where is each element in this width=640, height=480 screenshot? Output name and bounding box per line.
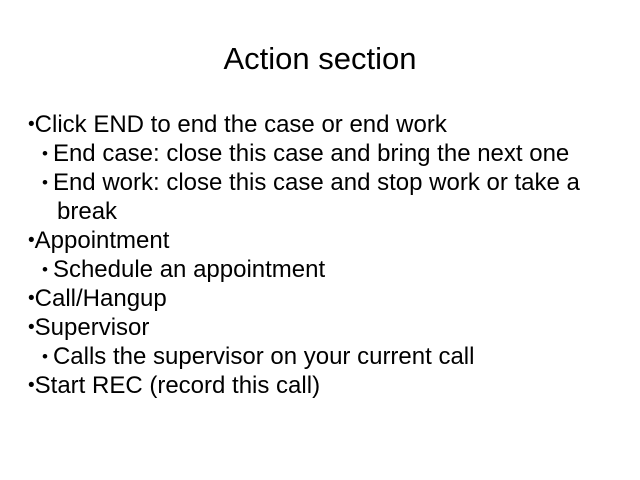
bullet-glyph-icon: •	[42, 144, 48, 163]
bullet-text: Schedule an appointment	[53, 256, 325, 283]
bullet-glyph-icon: •	[28, 230, 35, 251]
bullet-glyph-icon: •	[28, 288, 35, 309]
bullet-text: Click END to end the case or end work	[35, 111, 447, 138]
bullet-item-level1: •Supervisor	[28, 313, 616, 342]
bullet-text: Call/Hangup	[35, 285, 167, 312]
bullet-text: Start REC (record this call)	[35, 372, 320, 399]
bullet-item-level2: •End case: close this case and bring the…	[28, 139, 616, 168]
bullet-item-level2: •End work: close this case and stop work…	[28, 168, 616, 226]
bullet-glyph-icon: •	[28, 317, 35, 338]
bullet-text: Appointment	[35, 227, 170, 254]
bullet-glyph-icon: •	[28, 375, 35, 396]
bullet-item-level1: •Appointment	[28, 226, 616, 255]
bullet-item-level2: •Calls the supervisor on your current ca…	[28, 342, 616, 371]
bullet-glyph-icon: •	[42, 173, 48, 192]
bullet-item-level1: •Start REC (record this call)	[28, 371, 616, 400]
bullet-glyph-icon: •	[42, 260, 48, 279]
bullet-item-level1: •Click END to end the case or end work	[28, 110, 616, 139]
bullet-text: End case: close this case and bring the …	[53, 140, 569, 167]
bullet-glyph-icon: •	[28, 114, 35, 135]
page-title: Action section	[0, 41, 640, 77]
bullet-text: Calls the supervisor on your current cal…	[53, 343, 475, 370]
bullet-text: Supervisor	[35, 314, 150, 341]
presentation-slide: Action section •Click END to end the cas…	[0, 0, 640, 480]
slide-body-content: •Click END to end the case or end work •…	[28, 110, 616, 400]
bullet-glyph-icon: •	[42, 347, 48, 366]
bullet-item-level2: •Schedule an appointment	[28, 255, 616, 284]
bullet-item-level1: •Call/Hangup	[28, 284, 616, 313]
bullet-text: End work: close this case and stop work …	[53, 169, 580, 225]
